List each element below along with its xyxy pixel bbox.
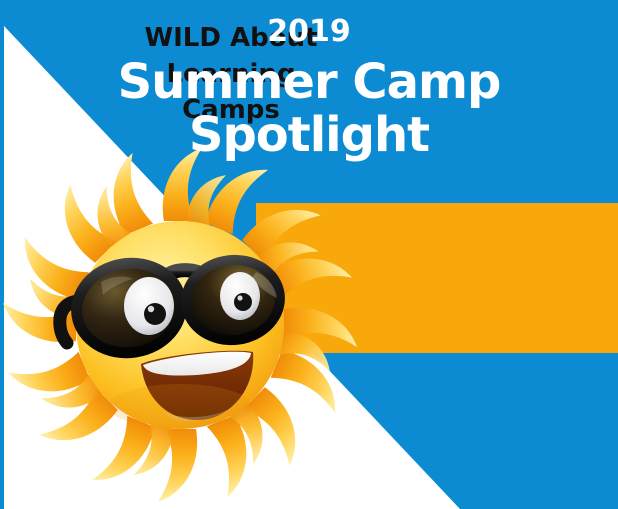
orange-callout-panel bbox=[256, 203, 618, 353]
left-blue-edge bbox=[0, 0, 4, 509]
summer-camp-spotlight-poster: 2019 Summer Camp Spotlight WILD About Le… bbox=[0, 0, 618, 509]
